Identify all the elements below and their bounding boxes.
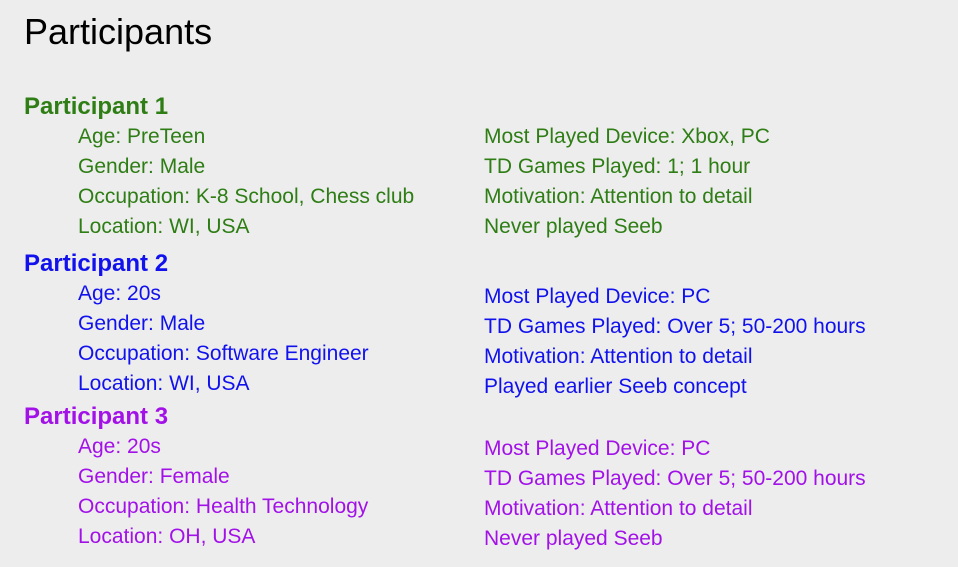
participant-2-td-games-played: TD Games Played: Over 5; 50-200 hours xyxy=(484,312,866,342)
participant-3-td-games-played: TD Games Played: Over 5; 50-200 hours xyxy=(484,464,866,494)
participant-2-most-played-device: Most Played Device: PC xyxy=(484,282,866,312)
participant-2-occupation: Occupation: Software Engineer xyxy=(78,339,369,369)
participants-page: Participants Participant 1 Age: PreTeen … xyxy=(0,0,958,567)
participant-2-left-column: Age: 20s Gender: Male Occupation: Softwa… xyxy=(78,279,369,399)
participant-1-occupation: Occupation: K-8 School, Chess club xyxy=(78,182,414,212)
participant-3-gender: Gender: Female xyxy=(78,462,368,492)
participant-1-td-games-played: TD Games Played: 1; 1 hour xyxy=(484,152,770,182)
participant-3-occupation: Occupation: Health Technology xyxy=(78,492,368,522)
participant-1-left-column: Age: PreTeen Gender: Male Occupation: K-… xyxy=(78,122,414,242)
participant-2-age: Age: 20s xyxy=(78,279,369,309)
participant-heading-3: Participant 3 xyxy=(24,403,168,431)
participant-2-gender: Gender: Male xyxy=(78,309,369,339)
participant-1-most-played-device: Most Played Device: Xbox, PC xyxy=(484,122,770,152)
participant-3-age: Age: 20s xyxy=(78,432,368,462)
participant-2-motivation: Motivation: Attention to detail xyxy=(484,342,866,372)
participant-2-right-column: Most Played Device: PC TD Games Played: … xyxy=(484,282,866,402)
participant-heading-1: Participant 1 xyxy=(24,93,168,121)
participant-3-left-column: Age: 20s Gender: Female Occupation: Heal… xyxy=(78,432,368,552)
page-title: Participants xyxy=(24,10,212,54)
participant-3-motivation: Motivation: Attention to detail xyxy=(484,494,866,524)
participant-2-seeb-experience: Played earlier Seeb concept xyxy=(484,372,866,402)
participant-1-location: Location: WI, USA xyxy=(78,212,414,242)
participant-heading-2: Participant 2 xyxy=(24,250,168,278)
participant-1-motivation: Motivation: Attention to detail xyxy=(484,182,770,212)
participant-3-seeb-experience: Never played Seeb xyxy=(484,524,866,554)
participant-1-right-column: Most Played Device: Xbox, PC TD Games Pl… xyxy=(484,122,770,242)
participant-1-gender: Gender: Male xyxy=(78,152,414,182)
participant-1-seeb-experience: Never played Seeb xyxy=(484,212,770,242)
participant-3-most-played-device: Most Played Device: PC xyxy=(484,434,866,464)
participant-3-location: Location: OH, USA xyxy=(78,522,368,552)
participant-2-location: Location: WI, USA xyxy=(78,369,369,399)
participant-3-right-column: Most Played Device: PC TD Games Played: … xyxy=(484,434,866,554)
participant-1-age: Age: PreTeen xyxy=(78,122,414,152)
